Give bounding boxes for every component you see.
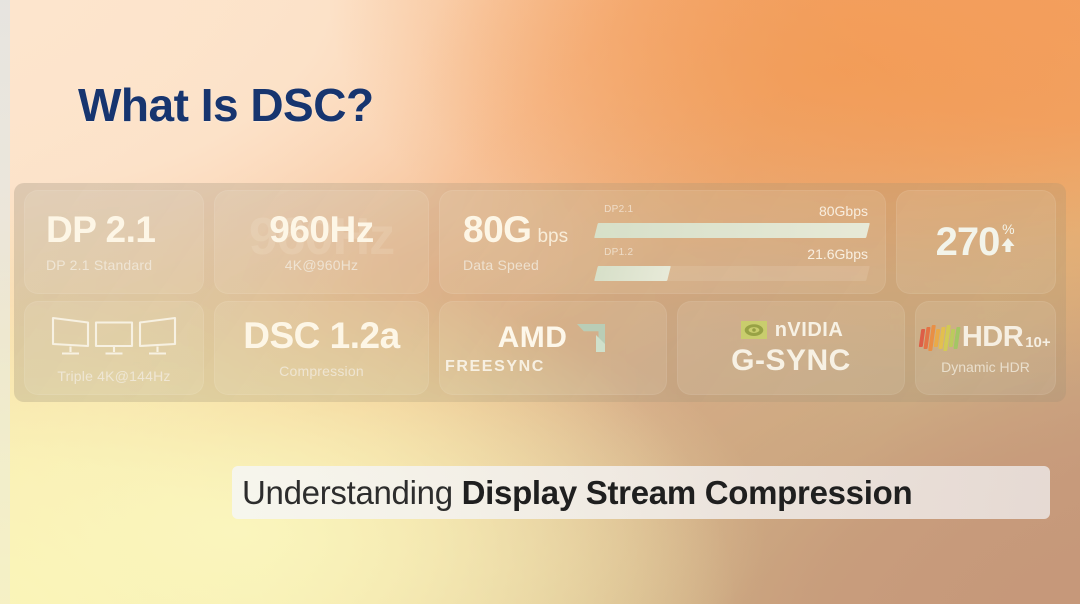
spec-card-dsc[interactable]: DSC 1.2a Compression <box>214 301 429 395</box>
spec-card-amd-freesync[interactable]: AMD FREESYNC <box>439 301 667 395</box>
bar-fill-dp12 <box>594 266 671 281</box>
nvidia-logo-row: nVIDIA <box>739 319 844 342</box>
triple-caption: Triple 4K@144Hz <box>57 368 170 384</box>
spec-panel: DP 2.1 DP 2.1 Standard 960Hz 960Hz 4K@96… <box>14 183 1066 402</box>
percent-wrap: 270 % <box>936 222 1017 262</box>
960hz-caption: 4K@960Hz <box>285 257 358 273</box>
hdr-color-bars-icon <box>920 325 959 351</box>
speed-unit: bps <box>537 226 568 248</box>
speed-caption: Data Speed <box>463 257 568 273</box>
spec-card-data-speed[interactable]: 80G bps Data Speed DP2.1 80Gbps DP1.2 21… <box>439 190 886 294</box>
percent-sign: % <box>1002 222 1014 236</box>
hdr-wordmark: HDR <box>962 321 1023 354</box>
bandwidth-bar-chart: DP2.1 80Gbps DP1.2 21.6Gbps <box>596 204 868 281</box>
triple-monitor-icon <box>50 313 178 359</box>
bar-value-dp12: 21.6Gbps <box>807 246 868 262</box>
page-title: What Is DSC? <box>78 78 374 132</box>
gsync-label: G-SYNC <box>731 344 851 378</box>
amd-wordmark: AMD <box>498 321 568 355</box>
bar-fill-dp21 <box>594 223 870 238</box>
hdr-logo-row: HDR 10+ <box>920 321 1050 354</box>
spec-row-top: DP 2.1 DP 2.1 Standard 960Hz 960Hz 4K@96… <box>14 190 1066 294</box>
arrow-up-icon <box>1000 237 1016 253</box>
caption-text: Understanding Display Stream Compression <box>242 474 912 512</box>
spec-card-960hz[interactable]: 960Hz 960Hz 4K@960Hz <box>214 190 429 294</box>
speed-value: 80G <box>463 211 531 248</box>
bar-row-dp21: DP2.1 80Gbps <box>596 204 868 238</box>
caption-regular: Understanding <box>242 474 462 511</box>
spec-card-nvidia-gsync[interactable]: nVIDIA G-SYNC <box>677 301 905 395</box>
caption-band: Understanding Display Stream Compression <box>232 466 1050 519</box>
caption-bold: Display Stream Compression <box>462 474 913 511</box>
spec-card-triple-monitor[interactable]: Triple 4K@144Hz <box>24 301 204 395</box>
nvidia-eye-icon <box>739 319 769 341</box>
data-speed-text: 80G bps Data Speed <box>463 211 568 273</box>
dsc-value: DSC 1.2a <box>243 317 399 354</box>
percent-value: 270 <box>936 222 1000 262</box>
dp21-caption: DP 2.1 Standard <box>46 257 204 273</box>
960hz-value: 960Hz <box>269 211 373 248</box>
dsc-caption: Compression <box>279 363 364 379</box>
bar-row-dp12: DP1.2 21.6Gbps <box>596 247 868 281</box>
amd-freesync-label: FREESYNC <box>445 358 545 376</box>
spec-card-dynamic-hdr[interactable]: HDR 10+ Dynamic HDR <box>915 301 1056 395</box>
data-speed-line: 80G bps <box>463 211 568 248</box>
background-left-edge <box>0 0 10 604</box>
bar-label-dp21: DP2.1 <box>604 204 633 215</box>
spec-card-dp21[interactable]: DP 2.1 DP 2.1 Standard <box>24 190 204 294</box>
hdr-caption: Dynamic HDR <box>941 359 1030 375</box>
spec-card-270-percent[interactable]: 270 % <box>896 190 1056 294</box>
nvidia-wordmark: nVIDIA <box>775 319 844 342</box>
bar-label-dp12: DP1.2 <box>604 247 633 258</box>
spec-row-bottom: Triple 4K@144Hz DSC 1.2a Compression AMD… <box>14 301 1066 395</box>
hdr-suffix: 10+ <box>1025 334 1050 351</box>
amd-logo-row: AMD <box>498 321 609 355</box>
dp21-value: DP 2.1 <box>46 211 204 248</box>
amd-arrow-icon <box>574 321 608 355</box>
bar-value-dp21: 80Gbps <box>819 203 868 219</box>
percent-side: % <box>1000 222 1016 253</box>
